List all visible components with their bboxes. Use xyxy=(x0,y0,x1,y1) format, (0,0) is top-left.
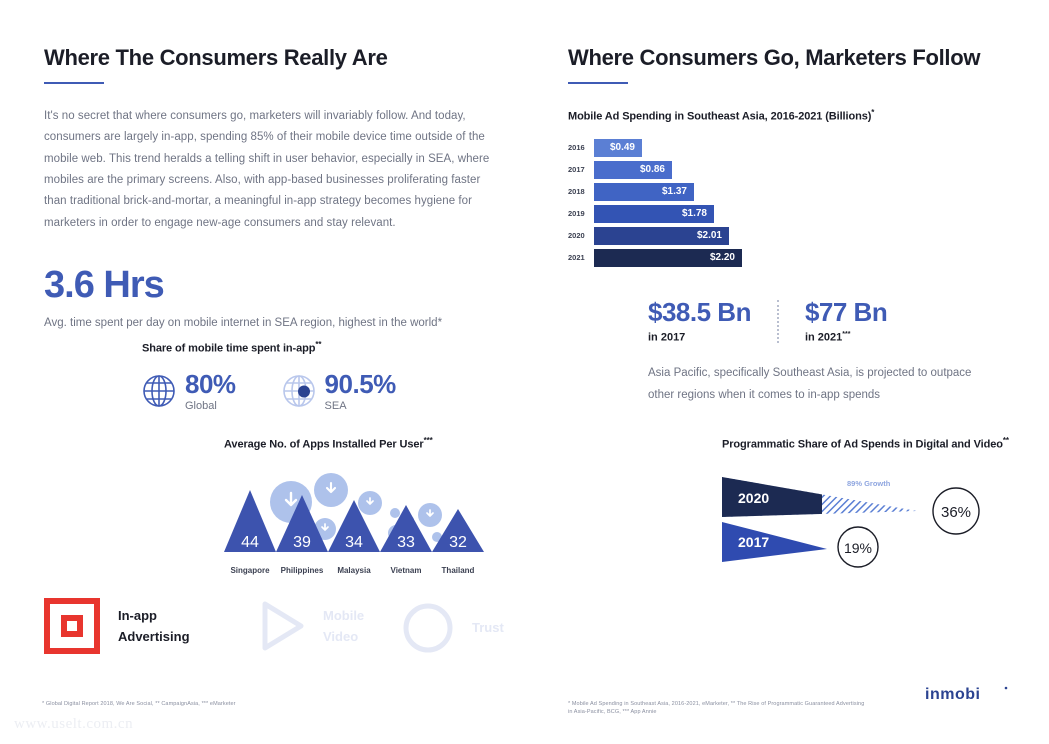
play-triangle-icon xyxy=(259,600,305,652)
square-target-icon xyxy=(44,598,100,654)
trio-label-line1-2: Trust xyxy=(472,617,504,638)
share-item-sea: 90.5% SEA xyxy=(282,371,396,412)
bar-track-1: $0.86 xyxy=(594,161,672,179)
right-footnote: * Mobile Ad Spending in Southeast Asia, … xyxy=(568,700,868,717)
apps-value-0: 44 xyxy=(241,534,259,551)
format-trio: In-app Advertising Mobile Video xyxy=(44,598,514,662)
bar-track-4: $2.01 xyxy=(594,227,729,245)
bar-row: 2021 $2.20 xyxy=(568,249,1008,267)
title-underline-rule-right xyxy=(568,82,628,84)
share-global-caption: Global xyxy=(185,400,236,412)
apps-country-3: Vietnam xyxy=(380,566,432,575)
apps-installed-label-text: Average No. of Apps Installed Per User xyxy=(224,439,424,451)
apps-installed-label: Average No. of Apps Installed Per User**… xyxy=(224,436,494,451)
apps-value-1: 39 xyxy=(293,534,311,551)
infographic-page: Where The Consumers Really Are It's no s… xyxy=(0,0,1049,744)
circle-outline-icon xyxy=(402,602,454,654)
share-in-app-row: 80% Global 90.5% xyxy=(142,371,472,412)
bar-year-0: 2016 xyxy=(568,143,594,152)
apps-country-0: Singapore xyxy=(224,566,276,575)
funnel-bar-2020: 2020 xyxy=(722,469,917,529)
trio-item-mobile-video[interactable]: Mobile Video xyxy=(259,600,364,652)
bar-value-1: $0.86 xyxy=(594,161,672,179)
funnel-year-2017: 2017 xyxy=(738,534,769,550)
trio-label-line2-0: Advertising xyxy=(118,626,190,647)
bar-track-2: $1.37 xyxy=(594,183,694,201)
trio-label-trust: Trust xyxy=(472,617,504,638)
stat-2021-label-sup: *** xyxy=(842,331,850,338)
programmatic-label-text: Programmatic Share of Ad Spends in Digit… xyxy=(722,439,1003,451)
bar-value-0: $0.49 xyxy=(594,139,642,157)
programmatic-label-sup: ** xyxy=(1003,436,1009,445)
share-in-app-label-sup: ** xyxy=(315,340,321,349)
share-sea-values: 90.5% SEA xyxy=(325,371,396,412)
trio-item-trust[interactable]: Trust xyxy=(402,602,504,654)
stat-2017-label: in 2017 xyxy=(648,331,751,344)
bar-row: 2018 $1.37 xyxy=(568,183,1008,201)
left-column: Where The Consumers Really Are It's no s… xyxy=(44,46,494,333)
funnel-bar-2017: 2017 xyxy=(722,522,827,562)
apps-installed-chart: 44 39 34 33 32 xyxy=(224,467,484,562)
trio-item-in-app-advertising[interactable]: In-app Advertising xyxy=(44,598,190,654)
apps-value-3: 33 xyxy=(397,534,415,551)
spend-stats-copy: Asia Pacific, specifically Southeast Asi… xyxy=(648,363,988,406)
stat-2021-value: $77 Bn xyxy=(805,298,887,327)
apps-country-labels: Singapore Philippines Malaysia Vietnam T… xyxy=(224,566,484,575)
share-global-value: 80% xyxy=(185,371,236,397)
apps-country-1: Philippines xyxy=(276,566,328,575)
share-sea-value: 90.5% xyxy=(325,371,396,397)
title-underline-rule xyxy=(44,82,104,84)
bar-row: 2020 $2.01 xyxy=(568,227,1008,245)
trio-label-in-app-advertising: In-app Advertising xyxy=(118,605,190,648)
trio-label-line1-0: In-app xyxy=(118,605,190,626)
apps-installed-label-sup: *** xyxy=(424,436,433,445)
avg-time-value: 3.6 Hrs xyxy=(44,264,494,307)
watermark: www.uselt.com.cn xyxy=(14,716,133,733)
bar-row: 2019 $1.78 xyxy=(568,205,1008,223)
share-in-app-label-text: Share of mobile time spent in-app xyxy=(142,343,315,355)
spend-stats-row: $38.5 Bn in 2017 $77 Bn in 2021*** xyxy=(648,298,988,343)
apps-installed-block: Average No. of Apps Installed Per User**… xyxy=(224,436,494,575)
bar-value-2: $1.37 xyxy=(594,183,694,201)
ad-spend-chart-label-sup: * xyxy=(871,108,874,117)
stat-2021-label-text: in 2021 xyxy=(805,331,842,343)
bar-track-3: $1.78 xyxy=(594,205,714,223)
share-item-global: 80% Global xyxy=(142,371,236,412)
bar-row: 2016 $0.49 xyxy=(568,139,1008,157)
stats-divider xyxy=(777,300,779,343)
ad-spend-bar-chart: 2016 $0.49 2017 $0.86 2018 $1.37 2019 xyxy=(568,139,1008,267)
bar-value-5: $2.20 xyxy=(594,249,742,267)
bar-track-5: $2.20 xyxy=(594,249,742,267)
funnel-pct-2020: 36% xyxy=(933,488,979,534)
inmobi-logo-text: inmobi xyxy=(925,686,980,703)
bar-year-3: 2019 xyxy=(568,209,594,218)
trio-label-line1-1: Mobile xyxy=(323,605,364,626)
apps-country-2: Malaysia xyxy=(328,566,380,575)
programmatic-funnel-chart: 2020 89% Growth 2017 36% 19% xyxy=(722,469,1002,564)
trio-label-line2-1: Video xyxy=(323,626,364,647)
stat-2017: $38.5 Bn in 2017 xyxy=(648,298,751,343)
stat-2021: $77 Bn in 2021*** xyxy=(805,298,887,343)
stat-2017-label-text: in 2017 xyxy=(648,331,685,343)
bar-year-4: 2020 xyxy=(568,231,594,240)
funnel-pct-value-2020: 36% xyxy=(941,504,971,521)
inmobi-logo: inmobi xyxy=(925,684,1011,704)
funnel-year-2020: 2020 xyxy=(738,490,769,506)
globe-icon xyxy=(142,374,176,408)
bar-track-0: $0.49 xyxy=(594,139,642,157)
share-global-values: 80% Global xyxy=(185,371,236,412)
globe-sea-icon xyxy=(282,374,316,408)
bar-year-1: 2017 xyxy=(568,165,594,174)
bar-year-2: 2018 xyxy=(568,187,594,196)
funnel-pct-value-2017: 19% xyxy=(844,540,872,556)
right-column: Where Consumers Go, Marketers Follow Mob… xyxy=(568,46,1008,271)
spend-stats-block: $38.5 Bn in 2017 $77 Bn in 2021*** Asia … xyxy=(648,298,988,406)
programmatic-share-block: Programmatic Share of Ad Spends in Digit… xyxy=(722,436,1012,564)
ad-spend-chart-label-text: Mobile Ad Spending in Southeast Asia, 20… xyxy=(568,111,871,123)
intro-paragraph: It's no secret that where consumers go, … xyxy=(44,106,494,234)
ad-spend-chart-label: Mobile Ad Spending in Southeast Asia, 20… xyxy=(568,108,1008,123)
bar-value-4: $2.01 xyxy=(594,227,729,245)
stat-2021-label: in 2021*** xyxy=(805,331,887,344)
share-in-app-label: Share of mobile time spent in-app** xyxy=(142,340,472,355)
bar-row: 2017 $0.86 xyxy=(568,161,1008,179)
apps-value-4: 32 xyxy=(449,534,467,551)
share-in-app-block: Share of mobile time spent in-app** 80% xyxy=(142,340,472,412)
funnel-pct-2017: 19% xyxy=(838,527,878,567)
share-sea-caption: SEA xyxy=(325,400,396,412)
right-column-title: Where Consumers Go, Marketers Follow xyxy=(568,46,1008,70)
left-footnote: * Global Digital Report 2018, We Are Soc… xyxy=(42,700,372,708)
bar-year-5: 2021 xyxy=(568,253,594,262)
avg-time-caption: Avg. time spent per day on mobile intern… xyxy=(44,313,494,333)
bar-value-3: $1.78 xyxy=(594,205,714,223)
funnel-growth-label: 89% Growth xyxy=(847,479,891,488)
apps-value-2: 34 xyxy=(345,534,363,551)
trio-label-mobile-video: Mobile Video xyxy=(323,605,364,648)
apps-country-4: Thailand xyxy=(432,566,484,575)
programmatic-label: Programmatic Share of Ad Spends in Digit… xyxy=(722,436,1012,451)
left-column-title: Where The Consumers Really Are xyxy=(44,46,494,70)
stat-2017-value: $38.5 Bn xyxy=(648,298,751,327)
